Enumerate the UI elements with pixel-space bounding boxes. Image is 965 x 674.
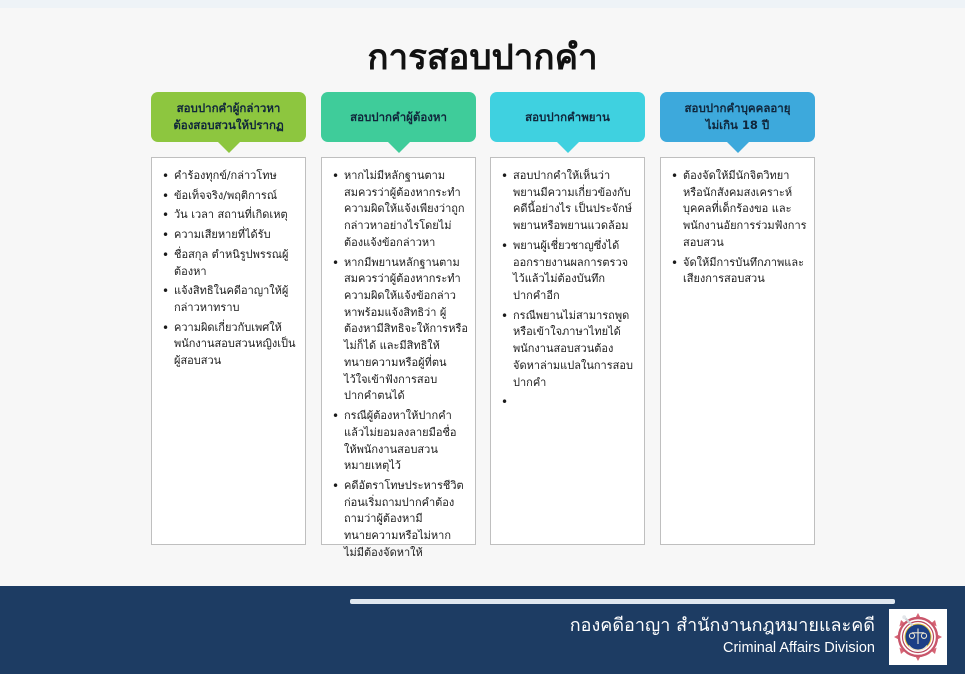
column-2-list: หากไม่มีหลักฐานตามสมควรว่าผู้ต้องหากระทำ… [328,168,469,562]
column-1-body: คำร้องทุกข์/กล่าวโทษ ข้อเท็จจริง/พฤติการ… [151,157,306,545]
list-item: หากมีพยานหลักฐานตามสมควรว่าผู้ต้องหากระท… [344,255,469,405]
column-1-header-line1: สอบปากคำผู้กล่าวหา [173,100,283,117]
top-strip [0,0,965,8]
list-item: หากไม่มีหลักฐานตามสมควรว่าผู้ต้องหากระทำ… [344,168,469,252]
list-item: พยานผู้เชี่ยวชาญซึ่งได้ออกรายงานผลการตรว… [513,238,638,305]
list-item: คำร้องทุกข์/กล่าวโทษ [174,168,299,185]
column-3: สอบปากคำพยาน สอบปากคำให้เห็นว่า พยานมีคว… [490,92,645,545]
column-3-body: สอบปากคำให้เห็นว่า พยานมีความเกี่ยวข้องก… [490,157,645,545]
slide-canvas: การสอบปากคำ [0,8,965,586]
column-1-header-line2: ต้องสอบสวนให้ปรากฏ [173,117,283,134]
list-item: จัดให้มีการบันทึกภาพและเสียงการสอบสวน [683,255,808,288]
column-2-header-line1: สอบปากคำผู้ต้องหา [350,109,447,126]
emblem-icon [892,612,944,662]
footer: กองคดีอาญา สำนักงานกฎหมายและคดี Criminal… [0,586,965,674]
footer-english-label: Criminal Affairs Division [570,638,875,658]
column-1-list: คำร้องทุกข์/กล่าวโทษ ข้อเท็จจริง/พฤติการ… [158,168,299,370]
list-item: สอบปากคำให้เห็นว่า พยานมีความเกี่ยวข้องก… [513,168,638,235]
column-4: สอบปากคำบุคคลอายุ ไม่เกิน 18 ปี ต้องจัดใ… [660,92,815,545]
list-item-empty [513,394,638,407]
column-4-body: ต้องจัดให้มีนักจิตวิทยาหรือนักสังคมสงเคร… [660,157,815,545]
column-3-list: สอบปากคำให้เห็นว่า พยานมีความเกี่ยวข้องก… [497,168,638,407]
royal-thai-police-emblem [889,609,947,665]
list-item: ชื่อสกุล ตำหนิรูปพรรณผู้ต้องหา [174,247,299,280]
page-title: การสอบปากคำ [0,30,965,85]
column-2-body: หากไม่มีหลักฐานตามสมควรว่าผู้ต้องหากระทำ… [321,157,476,545]
list-item: ข้อเท็จจริง/พฤติการณ์ [174,188,299,205]
list-item: ความผิดเกี่ยวกับเพศให้พนักงานสอบสวนหญิงเ… [174,320,299,370]
list-item: วัน เวลา สถานที่เกิดเหตุ [174,207,299,224]
column-1-arrow-icon [218,142,240,153]
column-4-header-line1: สอบปากคำบุคคลอายุ [685,100,791,117]
column-4-arrow-icon [727,142,749,153]
list-item: ต้องจัดให้มีนักจิตวิทยาหรือนักสังคมสงเคร… [683,168,808,252]
list-item: กรณีพยานไม่สามารถพูดหรือเข้าใจภาษาไทยได้… [513,308,638,392]
list-item: คดีอัตราโทษประหารชีวิตก่อนเริ่มถามปากคำต… [344,478,469,562]
column-2: สอบปากคำผู้ต้องหา หากไม่มีหลักฐานตามสมคว… [321,92,476,545]
footer-text: กองคดีอาญา สำนักงานกฎหมายและคดี Criminal… [570,614,875,659]
column-4-header-line2: ไม่เกิน 18 ปี [685,117,791,134]
column-1: สอบปากคำผู้กล่าวหา ต้องสอบสวนให้ปรากฏ คำ… [151,92,306,545]
column-3-header: สอบปากคำพยาน [490,92,645,142]
column-2-header: สอบปากคำผู้ต้องหา [321,92,476,142]
column-3-arrow-icon [557,142,579,153]
column-4-list: ต้องจัดให้มีนักจิตวิทยาหรือนักสังคมสงเคร… [667,168,808,288]
list-item: กรณีผู้ต้องหาให้ปากคำแล้วไม่ยอมลงลายมือช… [344,408,469,475]
column-3-header-line1: สอบปากคำพยาน [525,109,610,126]
footer-thai-label: กองคดีอาญา สำนักงานกฎหมายและคดี [570,614,875,638]
list-item: แจ้งสิทธิในคดีอาญาให้ผู้กล่าวหาทราบ [174,283,299,316]
column-4-header: สอบปากคำบุคคลอายุ ไม่เกิน 18 ปี [660,92,815,142]
list-item: ความเสียหายที่ได้รับ [174,227,299,244]
column-2-arrow-icon [388,142,410,153]
column-1-header: สอบปากคำผู้กล่าวหา ต้องสอบสวนให้ปรากฏ [151,92,306,142]
slide: การสอบปากคำ สอบปากคำผู้กล่าวหา ต้องสอบสว… [0,0,965,674]
footer-divider [350,599,895,604]
